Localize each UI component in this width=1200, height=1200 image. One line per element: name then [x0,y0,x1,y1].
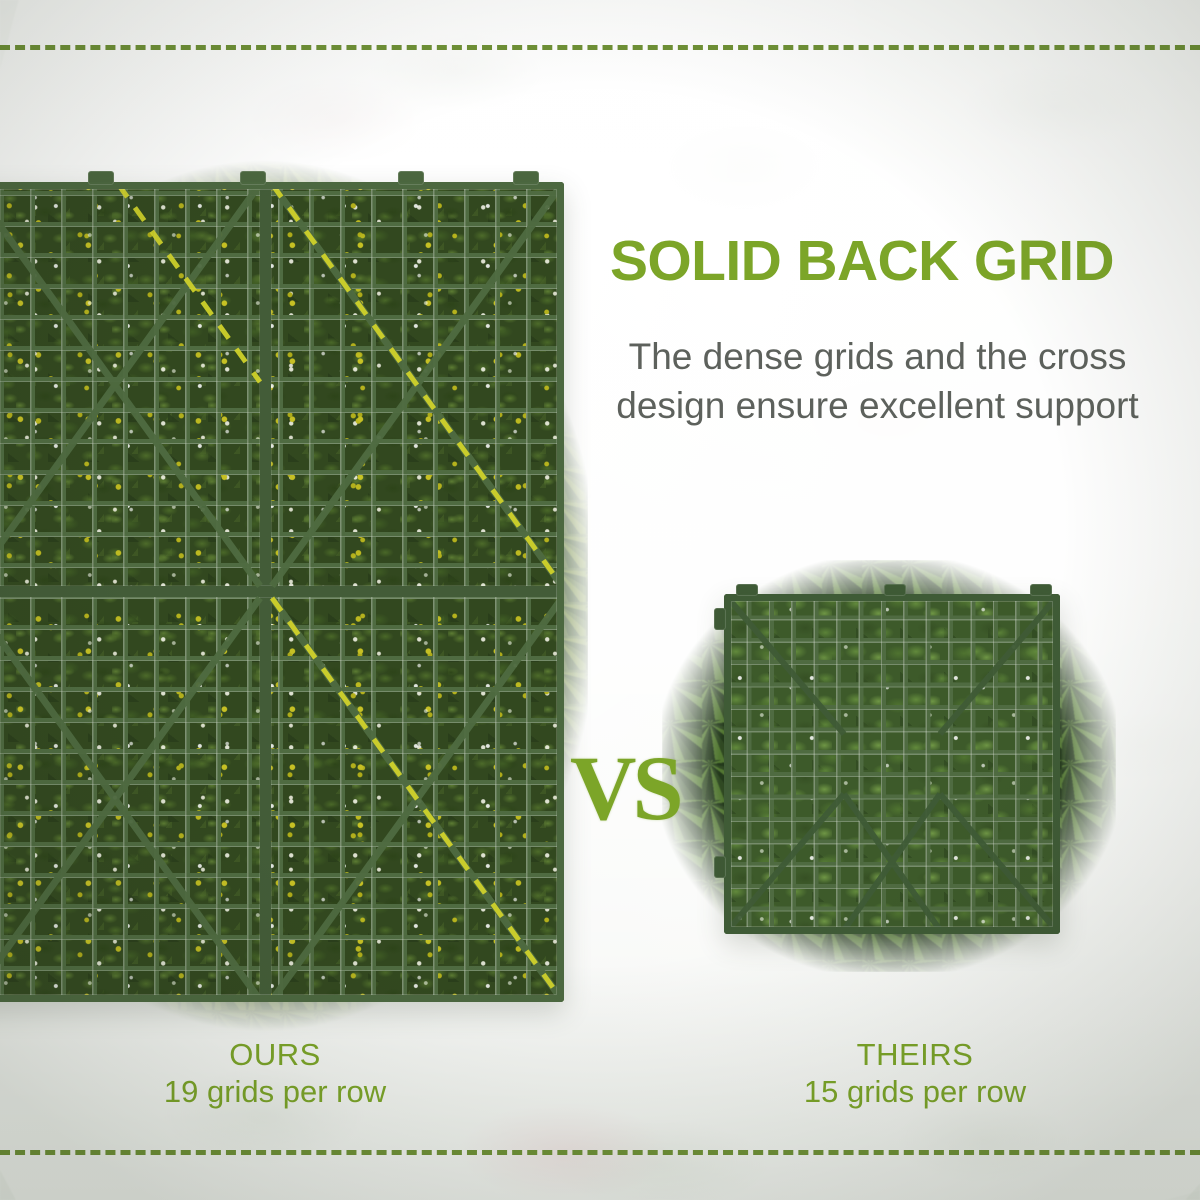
connector-tab [88,171,114,185]
versus-label: VS [570,742,680,834]
caption-ours-subtitle: 19 grids per row [55,1074,495,1111]
product-panel-ours [0,182,564,1002]
connector-tab [736,584,758,596]
caption-ours: OURS 19 grids per row [55,1037,495,1110]
page-subtitle: The dense grids and the cross design ens… [565,332,1190,430]
dashed-divider-top-icon [0,45,1200,50]
subtitle-line-1: The dense grids and the cross [565,332,1190,381]
connector-tab [513,171,539,185]
connector-tab [714,856,726,878]
connector-tab [1030,584,1052,596]
dashed-divider-bottom-icon [0,1150,1200,1155]
product-panel-theirs [724,594,1060,934]
connector-tab [398,171,424,185]
grid-rim-ours [0,182,564,1002]
grid-rim-theirs [724,594,1060,934]
caption-theirs-subtitle: 15 grids per row [760,1074,1070,1111]
connector-tab [884,584,906,596]
caption-theirs-title: THEIRS [760,1037,1070,1074]
page-title: SOLID BACK GRID [610,232,1190,290]
subtitle-line-2: design ensure excellent support [565,381,1190,430]
caption-ours-title: OURS [55,1037,495,1074]
caption-theirs: THEIRS 15 grids per row [760,1037,1070,1110]
connector-tab [240,171,266,185]
connector-tab [714,608,726,630]
infographic-canvas: SOLID BACK GRID The dense grids and the … [0,0,1200,1200]
